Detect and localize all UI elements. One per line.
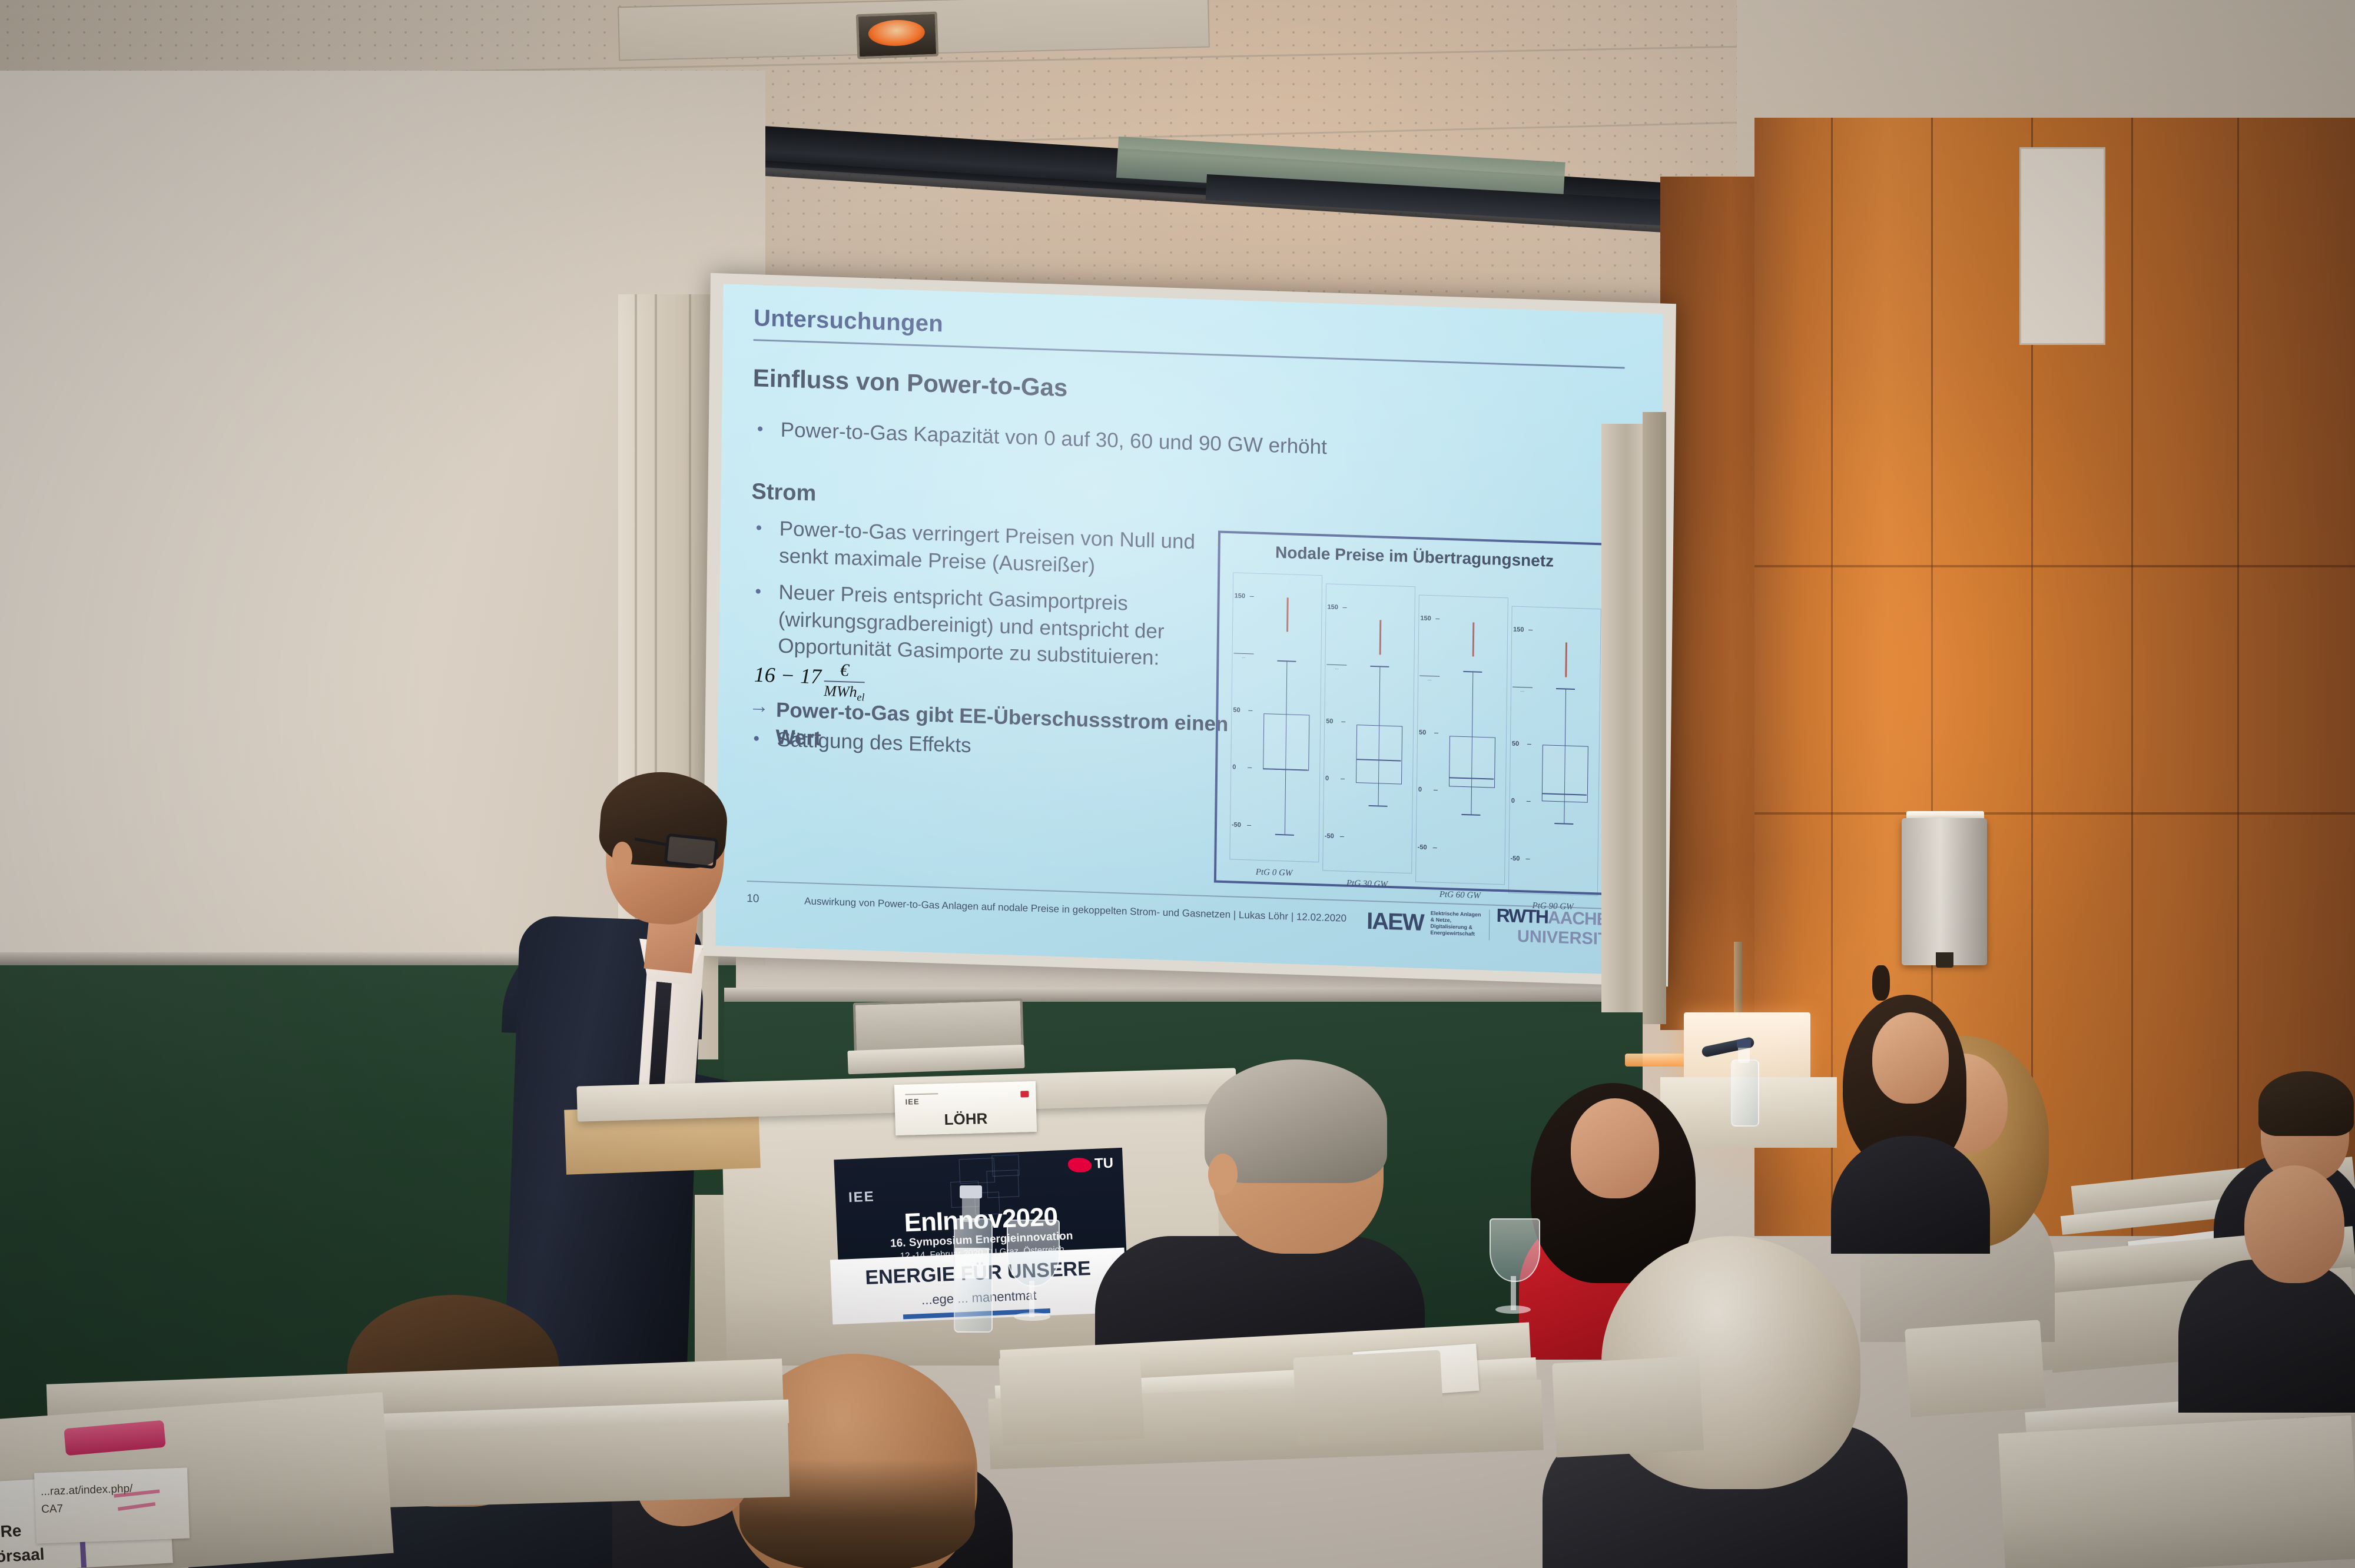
- desk-note-line2: CA7: [41, 1503, 64, 1516]
- boxplot-y-tick: [1343, 607, 1347, 608]
- boxplot-y-tick: [1340, 836, 1344, 836]
- water-glass-foot: [1495, 1305, 1531, 1314]
- boxplot-whisker-cap: [1461, 814, 1480, 816]
- boxplot-outliers: [1286, 597, 1289, 632]
- boxplot-box: [1356, 725, 1402, 785]
- formula-value: 16 − 17: [754, 662, 822, 688]
- boxplot-whisker-cap: [1369, 805, 1388, 807]
- nameplate-org: IEE: [905, 1097, 919, 1107]
- slide-footer-text: Auswirkung von Power-to-Gas Anlagen auf …: [804, 895, 1346, 924]
- chair-back: [1293, 1350, 1445, 1446]
- audience-head: [1571, 1098, 1659, 1198]
- ceiling-downlight: [856, 12, 939, 59]
- nameplate: IEE LÖHR: [894, 1081, 1037, 1135]
- boxplot-whisker-cap: [1275, 834, 1294, 836]
- water-glass: [1490, 1218, 1540, 1282]
- boxplot-y-tick: [1434, 790, 1438, 790]
- wall-dispenser: [1902, 818, 1987, 965]
- formula-numerator: €: [824, 661, 865, 680]
- slide-heading: Einfluss von Power-to-Gas: [753, 364, 1068, 402]
- boxplot-y-tick-label: 150: [1235, 592, 1246, 600]
- slide-intro-bullet: • Power-to-Gas Kapazität von 0 auf 30, 6…: [757, 416, 1582, 469]
- water-bottle-neck: [1738, 1045, 1750, 1063]
- boxplot-y-tick: [1248, 710, 1252, 711]
- audience-ear: [1208, 1154, 1238, 1195]
- water-bottle-neck: [962, 1195, 980, 1222]
- boxplot-outliers: [1379, 620, 1382, 655]
- boxplot-cell: 150500-50...PtG 30 GW: [1322, 583, 1415, 873]
- audience-head: [2244, 1165, 2344, 1283]
- boxplot-y-tick-label: 50: [1326, 718, 1333, 725]
- nameplate-logo-dot: [1020, 1091, 1029, 1097]
- boxplot-y-tick: [1528, 630, 1533, 630]
- boxplot-y-tick: [1341, 779, 1345, 779]
- chart-title: Nodale Preise im Übertragungsnetz: [1220, 542, 1608, 573]
- boxplot-y-tick: [1526, 859, 1530, 859]
- water-glass-stem: [1029, 1281, 1034, 1317]
- boxplot-y-tick-label: 0: [1325, 775, 1329, 782]
- projection-screen: Untersuchungen Einfluss von Power-to-Gas…: [702, 273, 1676, 986]
- desk-sign-line1: Re: [0, 1522, 22, 1542]
- wall-pillar-right-edge: [1643, 412, 1666, 1024]
- slide-section-label: Strom: [751, 479, 816, 507]
- water-glass: [1007, 1220, 1060, 1287]
- boxplot-y-tick: [1341, 722, 1345, 722]
- chair-back: [999, 1350, 1145, 1446]
- chair-back: [1905, 1320, 2046, 1417]
- boxplot-y-tick: [1248, 768, 1252, 768]
- boxplot-box: [1449, 736, 1495, 788]
- boxplot-y-tick-label: 0: [1232, 764, 1236, 771]
- boxplot-axis-break: ...: [1233, 653, 1253, 660]
- iaew-logo-tagline: Elektrische Anlagen & Netze, Digitalisie…: [1430, 910, 1482, 938]
- water-bottle: [1731, 1059, 1759, 1127]
- slide-page-number: 10: [747, 892, 759, 906]
- slide-last-bullet-text: Sättigung des Effekts: [777, 726, 971, 759]
- dispenser-notch: [1936, 952, 1953, 968]
- boxplot-axis-break: ...: [1326, 665, 1346, 671]
- lecture-hall-photo: Untersuchungen Einfluss von Power-to-Gas…: [0, 0, 2355, 1568]
- blackboard-rail: [724, 988, 1643, 1002]
- boxplot-y-tick: [1527, 801, 1531, 802]
- nameplate-name: LÖHR: [895, 1108, 1037, 1130]
- boxplot-y-tick-label: 0: [1418, 786, 1422, 793]
- logo-divider: [1489, 909, 1490, 940]
- rwth-logo-line1: RWTH: [1496, 905, 1548, 928]
- boxplot-y-tick-label: 50: [1419, 729, 1426, 736]
- boxplot-y-tick-label: 150: [1420, 614, 1431, 622]
- slide-intro-bullet-text: Power-to-Gas Kapazität von 0 auf 30, 60 …: [781, 417, 1328, 461]
- formula-fraction: € MWhel: [824, 661, 865, 702]
- slide-title-rule: [754, 339, 1625, 368]
- boxplot-y-tick: [1247, 825, 1251, 825]
- boxplot-y-tick-label: 150: [1513, 626, 1524, 633]
- water-bottle-cap: [960, 1185, 982, 1198]
- boxplot-category-label: PtG 30 GW: [1323, 878, 1411, 891]
- presentation-slide: Untersuchungen Einfluss von Power-to-Gas…: [715, 284, 1663, 975]
- slide-bullet-2-text: Neuer Preis entspricht Gasimportpreis (w…: [778, 579, 1220, 673]
- boxplot-outliers: [1472, 622, 1475, 656]
- audience-shoulders: [2178, 1260, 2355, 1413]
- presenter-ear: [612, 842, 632, 871]
- tu-graz-logo: TU: [1067, 1155, 1113, 1173]
- water-bottle-cap: [1737, 1039, 1751, 1048]
- boxplot-whisker-cap: [1554, 823, 1573, 825]
- boxplot-y-tick: [1250, 596, 1254, 597]
- boxplot-axis-break: ...: [1419, 676, 1439, 682]
- audience-hair-dark: [1872, 965, 1890, 1001]
- boxplot-y-tick: [1527, 744, 1531, 745]
- audience-hair: [2258, 1071, 2354, 1136]
- boxplot-y-tick-label: -50: [1418, 843, 1427, 851]
- boxplot-y-tick: [1435, 619, 1439, 619]
- boxplot-y-tick: [1434, 733, 1438, 733]
- boxplot-y-tick-label: -50: [1510, 855, 1520, 862]
- slide-bullet-1: • Power-to-Gas verringert Preisen von Nu…: [755, 514, 1221, 583]
- wall-pillar-right: [1601, 424, 1643, 1012]
- iaew-logo-mark: IAEW: [1366, 908, 1424, 936]
- boxplot-y-tick-label: 50: [1233, 707, 1240, 714]
- boxplot-y-tick-label: 150: [1327, 603, 1338, 611]
- water-bottle-label: [955, 1248, 989, 1278]
- slide-bullet-2: • Neuer Preis entspricht Gasimportpreis …: [754, 578, 1220, 713]
- wall-alcove: [2019, 147, 2105, 345]
- boxplot-y-tick: [1433, 848, 1437, 848]
- tu-logo-text: TU: [1094, 1155, 1113, 1172]
- tu-logo-blob: [1068, 1157, 1092, 1173]
- banner-org-mark: IEE: [848, 1189, 875, 1207]
- boxplot-outliers: [1565, 643, 1567, 677]
- slide-kicker: Untersuchungen: [754, 305, 944, 337]
- slide-bullet-1-text: Power-to-Gas verringert Preisen von Null…: [779, 516, 1221, 583]
- desk-note-left: ...raz.at/index.php/ CA7: [34, 1467, 190, 1543]
- desk-sign-line2: Hörsaal: [0, 1545, 45, 1567]
- boxplot-y-tick-label: 50: [1512, 740, 1519, 748]
- boxplot-axis-break: ...: [1512, 687, 1533, 693]
- boxplot-cell: 150500-50...PtG 0 GW: [1229, 572, 1322, 862]
- boxplot-box: [1263, 713, 1309, 771]
- boxplot-cell: 150500-50...PtG 90 GW: [1508, 606, 1601, 896]
- chart-panel: Nodale Preise im Übertragungsnetz 150500…: [1214, 531, 1611, 895]
- water-glass-foot: [1014, 1313, 1050, 1321]
- boxplot-y-tick-label: -50: [1325, 832, 1334, 840]
- glasses-lens: [664, 833, 719, 869]
- boxplot-y-tick-label: -50: [1232, 821, 1241, 829]
- chair-back: [1552, 1356, 1704, 1458]
- boxplot-cell: 150500-50...PtG 60 GW: [1415, 594, 1508, 885]
- slide-logos: IAEW Elektrische Anlagen & Netze, Digita…: [1366, 897, 1620, 954]
- boxplot-category-label: PtG 0 GW: [1230, 866, 1318, 879]
- boxplot-y-tick-label: 0: [1511, 798, 1515, 805]
- desk-surface: [1998, 1415, 2355, 1568]
